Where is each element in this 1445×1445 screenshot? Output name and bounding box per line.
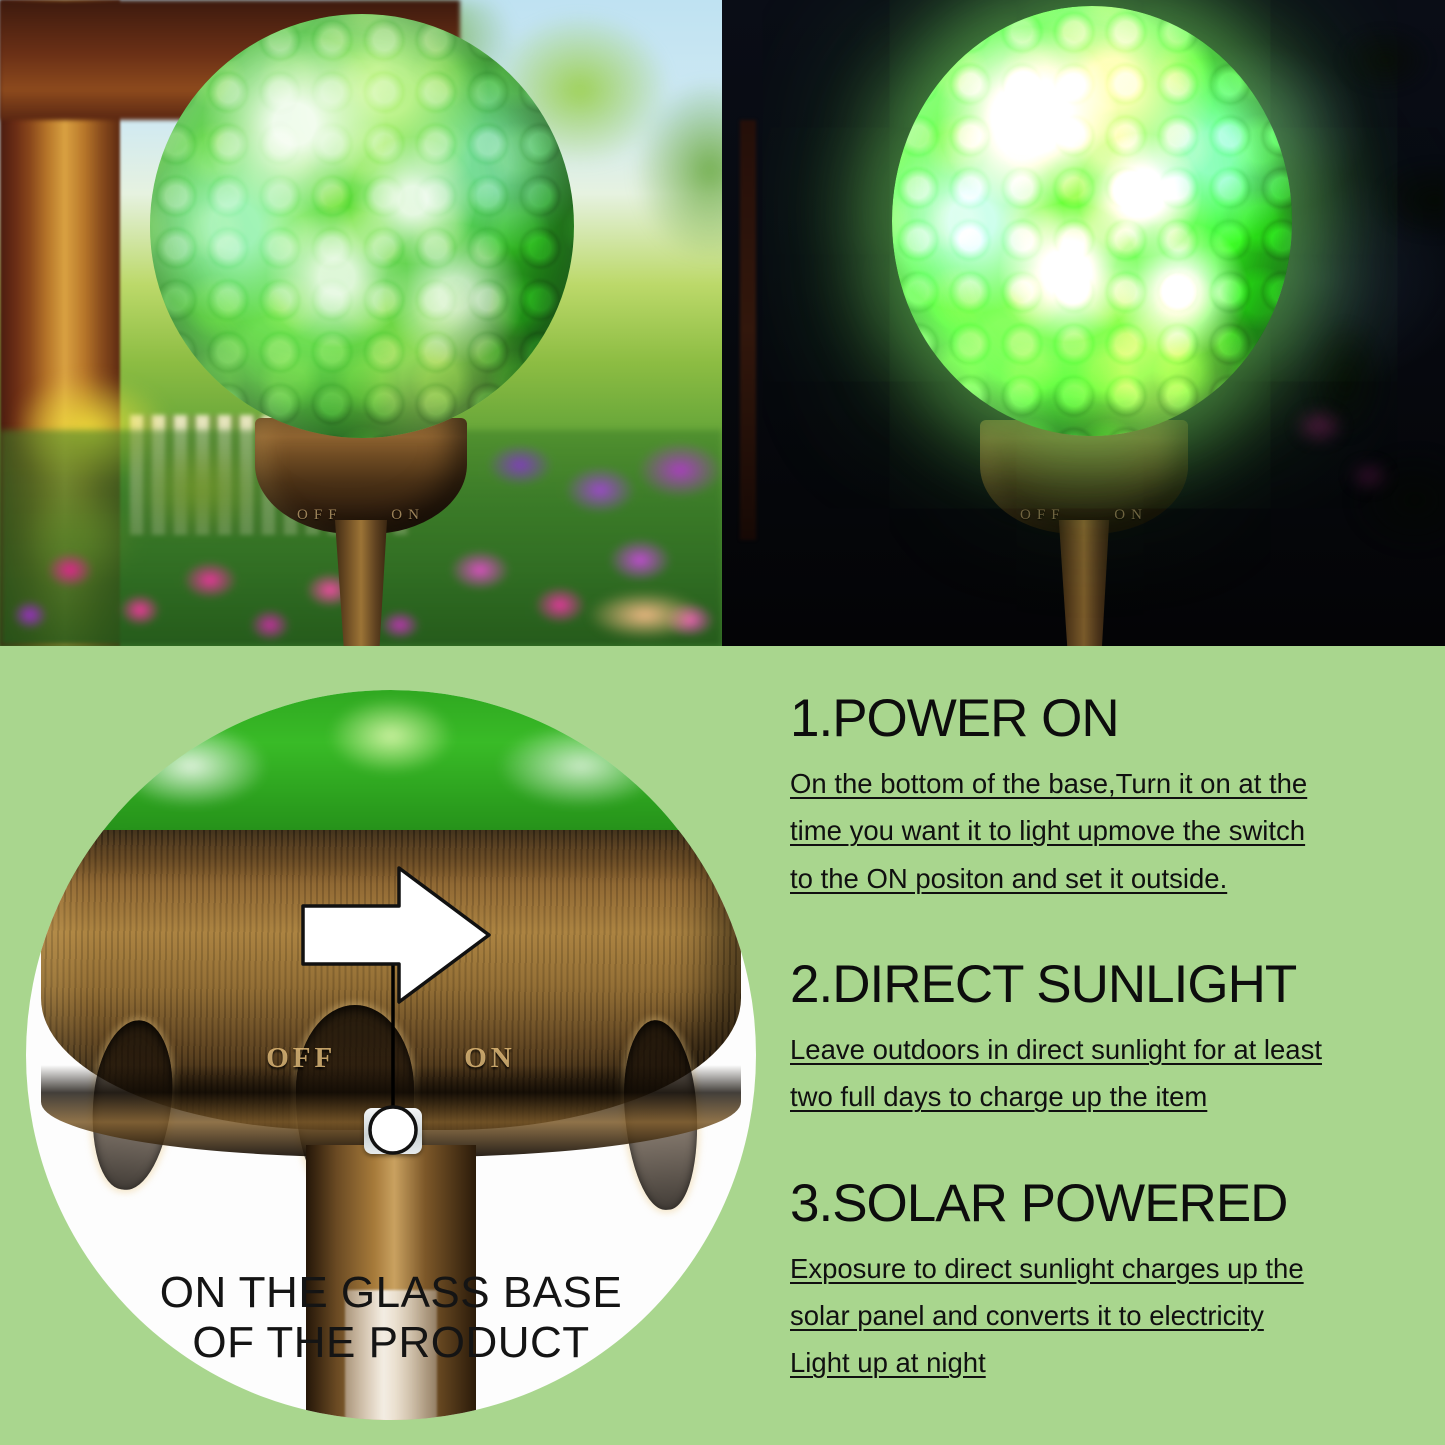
step-1-title: 1.POWER ON	[790, 692, 1420, 746]
product-photo-row: OFF ON OFF ON	[0, 0, 1445, 646]
inset-caption-line-1: ON THE GLASS BASE	[26, 1268, 756, 1318]
instructions-panel: OFF ON ON THE GLASS BASE OF THE PRODUCT	[0, 646, 1445, 1445]
step-3-line-1: Exposure to direct sunlight charges up t…	[790, 1245, 1420, 1292]
step-3-title: 3.SOLAR POWERED	[790, 1177, 1420, 1231]
photo-daytime-garden: OFF ON	[0, 0, 722, 646]
step-2-line-2: two full days to charge up the item	[790, 1073, 1420, 1120]
night-post-silhouette	[740, 120, 756, 540]
base-closeup-inset: OFF ON ON THE GLASS BASE OF THE PRODUCT	[26, 690, 756, 1420]
inset-caption-line-2: OF THE PRODUCT	[26, 1318, 756, 1368]
night-distant-flowers	[1269, 376, 1409, 526]
day-peach-bloom	[585, 585, 722, 646]
photo-nighttime-illuminated: OFF ON	[722, 0, 1445, 646]
step-power-on: 1.POWER ON On the bottom of the base,Tur…	[790, 692, 1420, 902]
step-1-line-2: time you want it to light upmove the swi…	[790, 807, 1420, 854]
step-2-body: Leave outdoors in direct sunlight for at…	[790, 1026, 1420, 1121]
step-2-line-1: Leave outdoors in direct sunlight for at…	[790, 1026, 1420, 1073]
night-glass-globe	[892, 6, 1292, 436]
step-3-line-3: Light up at night	[790, 1339, 1420, 1386]
step-1-line-3: to the ON positon and set it outside.	[790, 855, 1420, 902]
steps-list: 1.POWER ON On the bottom of the base,Tur…	[790, 692, 1420, 1387]
step-1-line-1: On the bottom of the base,Turn it on at …	[790, 760, 1420, 807]
step-solar-powered: 3.SOLAR POWERED Exposure to direct sunli…	[790, 1177, 1420, 1387]
inset-switch-toggle[interactable]	[364, 1108, 422, 1154]
step-direct-sunlight: 2.DIRECT SUNLIGHT Leave outdoors in dire…	[790, 958, 1420, 1121]
step-3-line-2: solar panel and converts it to electrici…	[790, 1292, 1420, 1339]
step-3-body: Exposure to direct sunlight charges up t…	[790, 1245, 1420, 1387]
step-2-title: 2.DIRECT SUNLIGHT	[790, 958, 1420, 1012]
day-glass-globe	[150, 14, 574, 438]
step-1-body: On the bottom of the base,Turn it on at …	[790, 760, 1420, 902]
inset-caption: ON THE GLASS BASE OF THE PRODUCT	[26, 1268, 756, 1368]
